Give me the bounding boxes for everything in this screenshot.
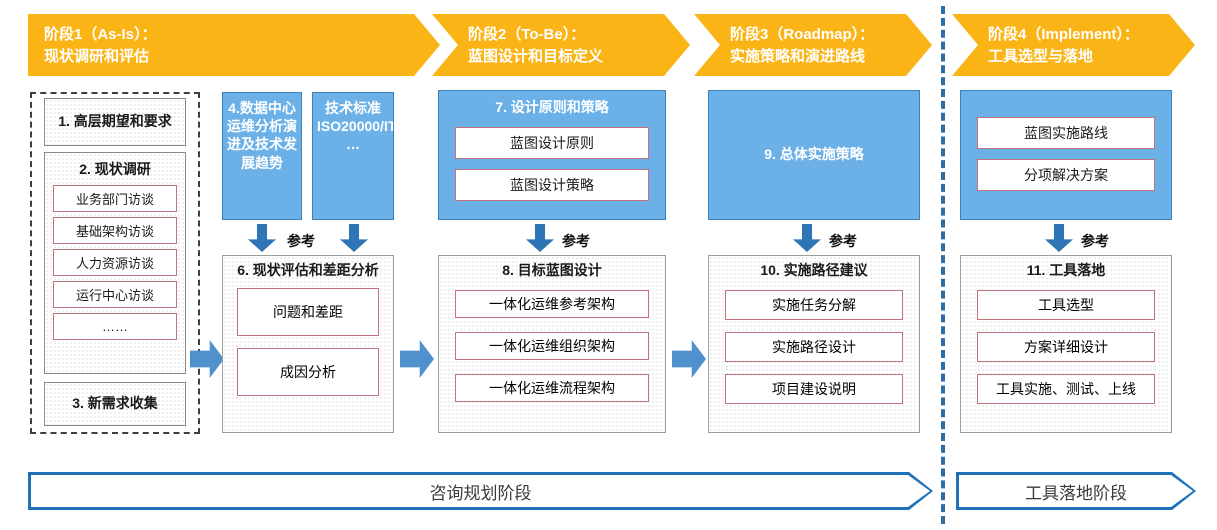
bottom-banner-consulting[interactable]: 咨询规划阶段 [28,472,933,510]
box-2-item-3-label: 运行中心访谈 [76,285,154,304]
box-4-datacenter-trends[interactable]: 4.数据中心运维分析演进及技术发展趋势 [222,92,302,220]
bottom-banner-consulting-label: 咨询规划阶段 [31,475,930,507]
box-7-design-principles: 7. 设计原则和策略 蓝图设计原则 蓝图设计策略 [438,90,666,220]
box-6-gap-analysis: 6. 现状评估和差距分析 问题和差距 成因分析 [222,255,394,433]
box-2-item-1[interactable]: 基础架构访谈 [53,217,177,244]
box-7-item-1[interactable]: 蓝图设计策略 [455,169,649,201]
box-1-high-level-expectations[interactable]: 1. 高层期望和要求 [44,98,186,146]
reference-label-column4: 参考 [829,231,857,251]
box-tech-standards-label: 技术标准ISO20000/ITSS/ITIL… … [317,100,394,152]
reference-label-column2: 参考 [287,231,315,251]
reference-down-arrow-left [248,224,276,252]
box-1-title: 1. 高层期望和要求 [58,113,172,131]
column5-top-item-1-label: 分项解决方案 [1024,165,1108,185]
box-6-title: 6. 现状评估和差距分析 [231,262,385,280]
phase-banner-1-subtitle: 现状调研和评估 [44,46,440,68]
box-4-label: 4.数据中心运维分析演进及技术发展趋势 [227,100,297,171]
box-10-item-2-label: 项目建设说明 [772,379,856,399]
phase-banner-2: 阶段2（To-Be）： 蓝图设计和目标定义 [432,14,690,76]
reference-down-arrow-column4 [793,224,821,252]
box-8-target-blueprint: 8. 目标蓝图设计 一体化运维参考架构 一体化运维组织架构 一体化运维流程架构 [438,255,666,433]
box-2-item-2-label: 人力资源访谈 [76,253,154,272]
box-11-item-1-label: 方案详细设计 [1024,337,1108,357]
reference-label-column5: 参考 [1081,231,1109,251]
box-2-item-0[interactable]: 业务部门访谈 [53,185,177,212]
box-10-item-0[interactable]: 实施任务分解 [725,290,903,320]
box-11-title: 11. 工具落地 [961,262,1171,280]
box-11-tool-landing: 11. 工具落地 工具选型 方案详细设计 工具实施、测试、上线 [960,255,1172,433]
box-8-item-2-label: 一体化运维流程架构 [489,378,615,398]
reference-down-arrow-column5 [1045,224,1073,252]
box-10-item-1-label: 实施路径设计 [772,337,856,357]
reference-label-column3: 参考 [562,231,590,251]
box-6-item-0[interactable]: 问题和差距 [237,288,379,336]
connector-arrow-3 [672,340,706,378]
box-2-item-2[interactable]: 人力资源访谈 [53,249,177,276]
reference-down-arrow-column3 [526,224,554,252]
phase-banner-4: 阶段4（Implement）： 工具选型与落地 [952,14,1195,76]
box-8-item-1[interactable]: 一体化运维组织架构 [455,332,649,360]
box-2-item-3[interactable]: 运行中心访谈 [53,281,177,308]
box-2-title: 2. 现状调研 [51,161,179,179]
column5-top-item-1[interactable]: 分项解决方案 [977,159,1155,191]
box-6-item-1-label: 成因分析 [280,362,336,382]
box-11-item-2[interactable]: 工具实施、测试、上线 [977,374,1155,404]
phase-banner-1-title: 阶段1（As-Is）： [44,26,157,43]
phase-banner-1: 阶段1（As-Is）： 现状调研和评估 [28,14,440,76]
box-10-item-2[interactable]: 项目建设说明 [725,374,903,404]
box-7-item-0-label: 蓝图设计原则 [510,133,594,153]
box-11-item-0-label: 工具选型 [1038,295,1094,315]
box-8-item-2[interactable]: 一体化运维流程架构 [455,374,649,402]
box-6-item-0-label: 问题和差距 [273,302,343,322]
box-9-overall-strategy[interactable]: 9. 总体实施策略 [708,90,920,220]
box-tech-standards[interactable]: 技术标准ISO20000/ITSS/ITIL… … [312,92,394,220]
box-8-title: 8. 目标蓝图设计 [439,262,665,280]
phase-divider [941,6,945,524]
box-7-item-1-label: 蓝图设计策略 [510,175,594,195]
reference-down-arrow-right [340,224,368,252]
box-3-title: 3. 新需求收集 [72,395,158,413]
box-8-item-0[interactable]: 一体化运维参考架构 [455,290,649,318]
column5-top-item-0-label: 蓝图实施路线 [1024,123,1108,143]
box-7-title: 7. 设计原则和策略 [439,99,665,117]
box-9-title: 9. 总体实施策略 [764,146,864,164]
box-7-item-0[interactable]: 蓝图设计原则 [455,127,649,159]
box-2-current-state-research: 2. 现状调研 业务部门访谈 基础架构访谈 人力资源访谈 运行中心访谈 …… [44,152,186,374]
phase-banner-3-subtitle: 实施策略和演进路线 [730,46,932,68]
box-10-item-1[interactable]: 实施路径设计 [725,332,903,362]
box-2-item-4[interactable]: …… [53,313,177,340]
connector-arrow-2 [400,340,434,378]
box-10-implementation-path: 10. 实施路径建议 实施任务分解 实施路径设计 项目建设说明 [708,255,920,433]
box-2-item-4-label: …… [102,319,128,334]
column5-top-item-0[interactable]: 蓝图实施路线 [977,117,1155,149]
box-8-item-0-label: 一体化运维参考架构 [489,294,615,314]
phase-banner-4-subtitle: 工具选型与落地 [988,46,1195,68]
blueprint-implementation-panel: 蓝图实施路线 分项解决方案 [960,90,1172,220]
phase-banner-2-subtitle: 蓝图设计和目标定义 [468,46,690,68]
bottom-banner-tool-landing-label: 工具落地阶段 [959,475,1193,507]
box-2-item-1-label: 基础架构访谈 [76,221,154,240]
box-11-item-1[interactable]: 方案详细设计 [977,332,1155,362]
box-10-title: 10. 实施路径建议 [709,262,919,280]
phase-banner-4-title: 阶段4（Implement）： [988,26,1139,43]
phase-banner-3-title: 阶段3（Roadmap）： [730,26,874,43]
box-10-item-0-label: 实施任务分解 [772,295,856,315]
box-2-item-0-label: 业务部门访谈 [76,189,154,208]
box-6-item-1[interactable]: 成因分析 [237,348,379,396]
bottom-banner-tool-landing[interactable]: 工具落地阶段 [956,472,1196,510]
box-3-new-requirements[interactable]: 3. 新需求收集 [44,382,186,426]
diagram-canvas: 阶段1（As-Is）： 现状调研和评估 阶段2（To-Be）： 蓝图设计和目标定… [0,0,1217,530]
phase-banner-3: 阶段3（Roadmap）： 实施策略和演进路线 [694,14,932,76]
phase-banner-2-title: 阶段2（To-Be）： [468,26,585,43]
box-8-item-1-label: 一体化运维组织架构 [489,336,615,356]
box-11-item-0[interactable]: 工具选型 [977,290,1155,320]
box-11-item-2-label: 工具实施、测试、上线 [996,379,1136,399]
